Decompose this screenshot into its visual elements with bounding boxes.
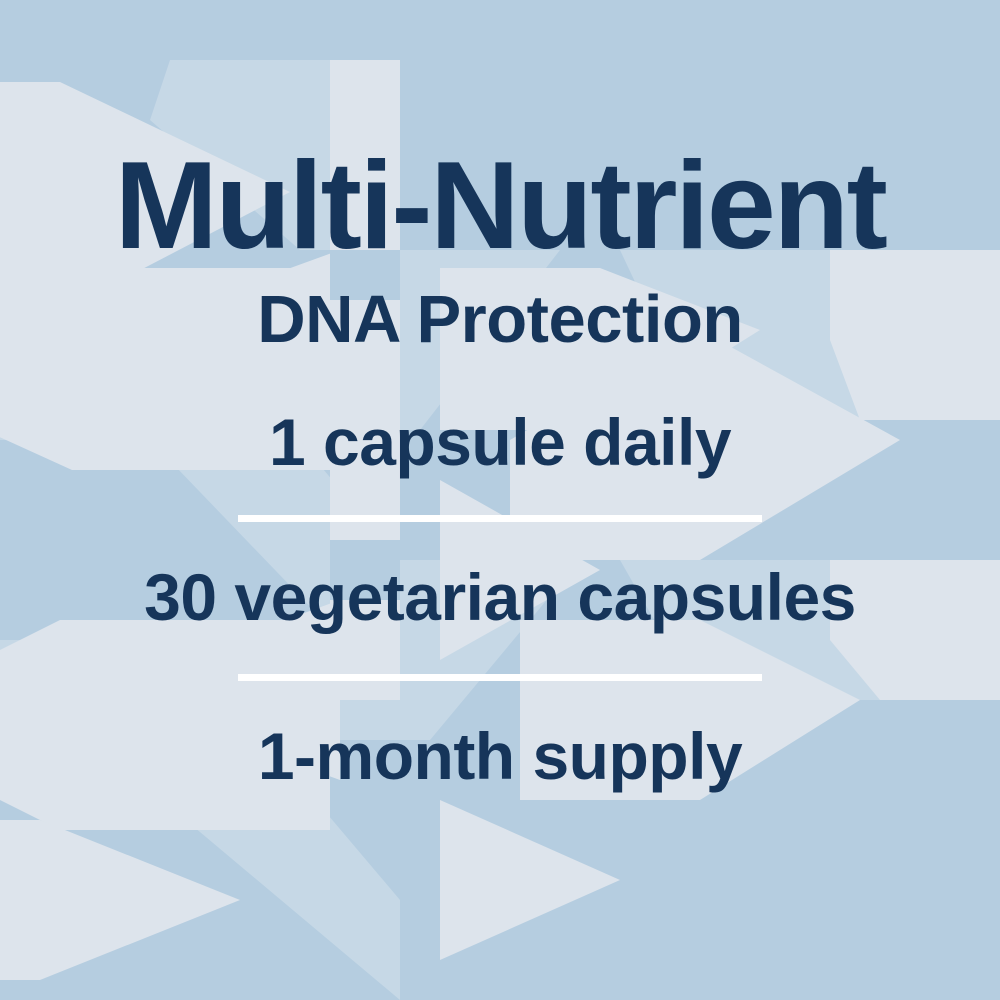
fact-supply: 1-month supply <box>258 723 742 789</box>
product-info-card: Multi-Nutrient DNA Protection 1 capsule … <box>0 0 1000 1000</box>
card-content: Multi-Nutrient DNA Protection 1 capsule … <box>0 0 1000 1000</box>
fact-dosage: 1 capsule daily <box>269 409 731 475</box>
page-subtitle: DNA Protection <box>257 286 743 353</box>
divider-2 <box>238 674 762 681</box>
divider-1 <box>238 515 762 522</box>
page-title: Multi-Nutrient <box>115 144 886 268</box>
fact-count: 30 vegetarian capsules <box>144 564 856 630</box>
